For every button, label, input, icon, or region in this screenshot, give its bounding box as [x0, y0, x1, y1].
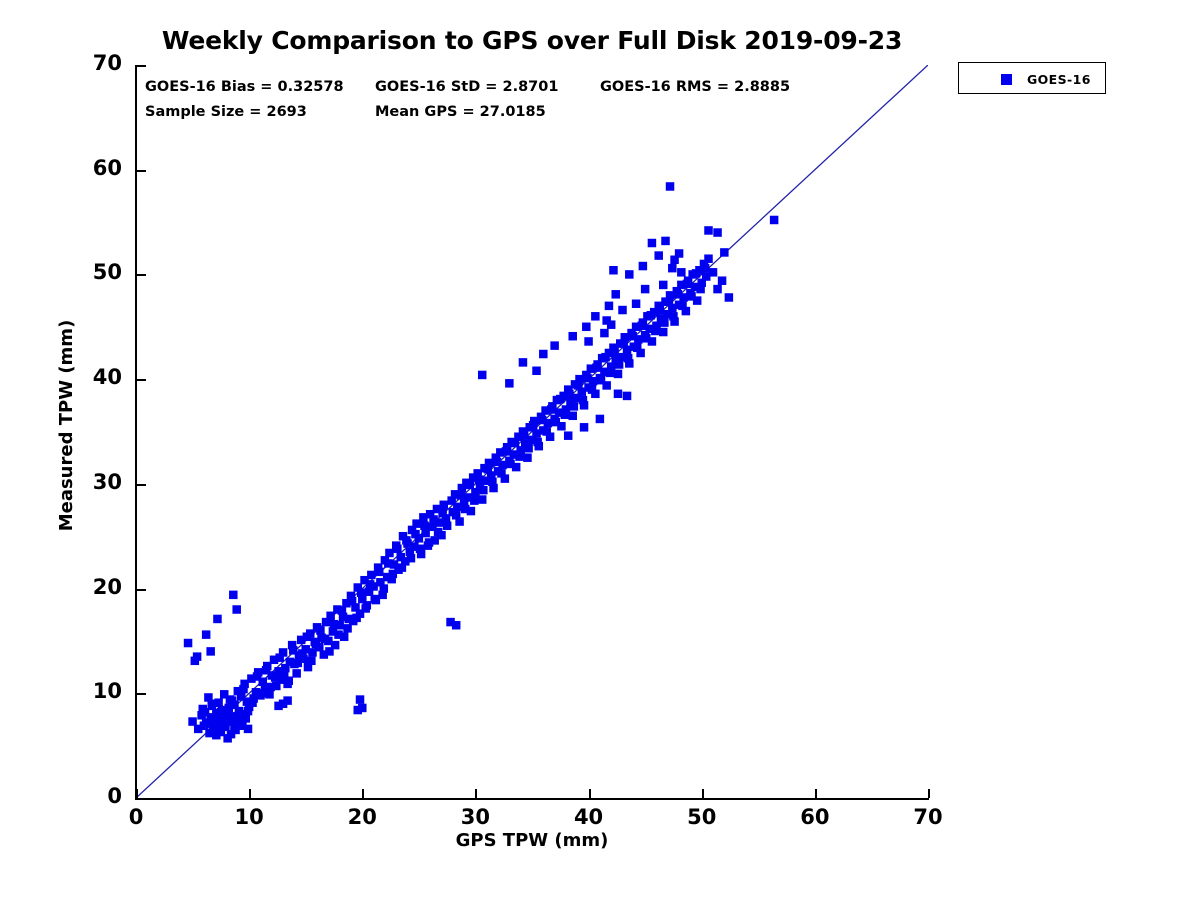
x-axis-label: GPS TPW (mm): [136, 830, 928, 851]
scatter-marker: [253, 672, 262, 681]
annotation-rms: GOES-16 RMS = 2.8885: [600, 79, 790, 95]
scatter-marker: [478, 495, 487, 504]
annotation-bias: GOES-16 Bias = 0.32578: [145, 79, 344, 95]
scatter-marker: [284, 676, 293, 685]
scatter-marker: [402, 536, 411, 545]
annotation-sample-size: Sample Size = 2693: [145, 104, 307, 120]
scatter-marker: [651, 327, 660, 336]
scatter-marker: [475, 475, 484, 484]
scatter-marker: [375, 568, 384, 577]
page-title: Weekly Comparison to GPS over Full Disk …: [136, 26, 928, 55]
scatter-marker: [574, 381, 583, 390]
scatter-marker: [533, 438, 542, 447]
scatter-marker: [661, 237, 670, 246]
scatter-marker: [384, 559, 393, 568]
scatter-marker: [348, 597, 357, 606]
scatter-marker: [619, 339, 628, 348]
scatter-marker: [656, 306, 665, 315]
scatter-marker: [596, 415, 605, 424]
scatter-marker: [605, 302, 614, 311]
scatter-marker: [206, 647, 215, 656]
y-tick: [137, 589, 146, 591]
scatter-marker: [683, 280, 692, 289]
scatter-marker: [366, 580, 375, 589]
scatter-marker: [221, 720, 230, 729]
scatter-marker: [580, 423, 589, 432]
scatter-marker: [713, 228, 722, 237]
scatter-marker: [361, 604, 370, 613]
scatter-marker: [665, 297, 674, 306]
scatter-marker: [529, 421, 538, 430]
y-tick: [137, 798, 146, 800]
scatter-marker: [208, 700, 217, 709]
scatter-marker: [307, 657, 316, 666]
scatter-marker: [639, 262, 648, 271]
scatter-marker: [188, 717, 197, 726]
scatter-marker: [713, 285, 722, 294]
x-tick: [928, 789, 930, 798]
scatter-marker: [674, 290, 683, 299]
scatter-marker: [588, 385, 597, 394]
y-tick-label: 20: [42, 575, 122, 599]
scatter-marker: [677, 268, 686, 277]
scatter-marker: [660, 318, 669, 327]
y-tick-label: 40: [42, 365, 122, 389]
scatter-marker: [262, 666, 271, 675]
scatter-marker: [600, 329, 609, 338]
scatter-marker: [579, 396, 588, 405]
plot-area: [136, 65, 928, 798]
scatter-marker: [611, 290, 620, 299]
scatter-marker: [275, 653, 284, 662]
x-axis-spine: [135, 798, 929, 800]
scatter-marker: [610, 348, 619, 357]
chart-figure: Weekly Comparison to GPS over Full Disk …: [0, 0, 1200, 900]
y-tick-label: 30: [42, 470, 122, 494]
scatter-marker: [602, 316, 611, 325]
y-tick: [137, 274, 146, 276]
scatter-marker: [615, 360, 624, 369]
scatter-marker: [411, 530, 420, 539]
scatter-marker: [568, 332, 577, 341]
x-tick: [815, 789, 817, 798]
y-tick-label: 10: [42, 679, 122, 703]
scatter-marker: [505, 379, 514, 388]
scatter-marker: [226, 695, 235, 704]
x-tick: [475, 789, 477, 798]
x-tick: [136, 789, 138, 798]
scatter-marker: [770, 216, 779, 225]
scatter-marker: [271, 673, 280, 682]
scatter-marker: [244, 725, 253, 734]
scatter-marker: [497, 469, 506, 478]
scatter-marker: [606, 369, 615, 378]
scatter-marker: [416, 545, 425, 554]
scatter-marker: [312, 640, 321, 649]
scatter-marker: [648, 239, 657, 248]
scatter-marker: [239, 685, 248, 694]
scatter-marker: [452, 511, 461, 520]
y-axis-label: Measured TPW (mm): [56, 59, 77, 792]
x-tick-label: 50: [662, 805, 742, 829]
scatter-marker: [493, 458, 502, 467]
scatter-marker: [274, 702, 283, 711]
scatter-marker: [614, 370, 623, 379]
y-tick-label: 50: [42, 260, 122, 284]
x-tick: [362, 789, 364, 798]
y-tick-label: 60: [42, 156, 122, 180]
y-tick-label: 0: [42, 784, 122, 808]
scatter-marker: [511, 439, 520, 448]
x-tick-label: 40: [549, 805, 629, 829]
scatter-marker: [199, 705, 208, 714]
scatter-marker: [582, 323, 591, 332]
scatter-marker: [725, 293, 734, 302]
scatter-marker: [443, 521, 452, 530]
scatter-marker: [696, 285, 705, 294]
scatter-marker: [367, 571, 376, 580]
scatter-marker: [704, 254, 713, 263]
x-tick: [589, 789, 591, 798]
scatter-marker: [632, 300, 641, 309]
scatter-marker: [357, 589, 366, 598]
scatter-marker: [316, 626, 325, 635]
scatter-marker: [478, 371, 487, 380]
scatter-marker: [393, 545, 402, 554]
scatter-marker: [552, 418, 561, 427]
scatter-marker: [212, 731, 221, 740]
x-tick-label: 30: [435, 805, 515, 829]
x-tick-label: 70: [888, 805, 968, 829]
scatter-marker: [633, 343, 642, 352]
annotation-mean-gps: Mean GPS = 27.0185: [375, 104, 546, 120]
scatter-marker: [628, 332, 637, 341]
y-tick: [137, 693, 146, 695]
scatter-marker: [298, 649, 307, 658]
scatter-marker: [701, 264, 710, 273]
scatter-marker: [479, 486, 488, 495]
scatter-marker: [584, 337, 593, 346]
scatter-marker: [217, 708, 226, 717]
y-tick: [137, 379, 146, 381]
x-tick: [249, 789, 251, 798]
scatter-marker: [230, 723, 239, 732]
scatter-marker: [556, 395, 565, 404]
scatter-marker: [438, 509, 447, 518]
scatter-marker: [519, 358, 528, 367]
scatter-marker: [343, 624, 352, 633]
scatter-marker: [248, 698, 257, 707]
scatter-marker: [484, 465, 493, 474]
scatter-marker: [520, 431, 529, 440]
scatter-marker: [568, 412, 577, 421]
scatter-marker: [704, 226, 713, 235]
scatter-marker: [370, 595, 379, 604]
scatter-marker: [385, 549, 394, 558]
scatter-marker: [675, 249, 684, 257]
scatter-marker: [597, 376, 606, 385]
scatter-marker: [654, 251, 663, 260]
scatter-marker: [339, 613, 348, 622]
scatter-marker: [429, 515, 438, 524]
scatter-marker: [470, 496, 479, 505]
scatter-marker: [642, 334, 651, 343]
scatter-marker: [213, 615, 222, 624]
scatter-canvas: [136, 65, 928, 798]
legend-marker-icon: [1001, 74, 1012, 85]
scatter-marker: [669, 312, 678, 321]
scatter-marker: [202, 630, 211, 639]
scatter-marker: [257, 689, 266, 698]
x-tick: [702, 789, 704, 798]
scatter-marker: [692, 269, 701, 278]
scatter-marker: [641, 285, 650, 294]
scatter-marker: [184, 639, 193, 648]
scatter-marker: [618, 306, 627, 315]
scatter-marker: [456, 491, 465, 500]
scatter-marker: [564, 431, 573, 440]
scatter-marker: [235, 711, 244, 720]
scatter-marker: [570, 402, 579, 411]
scatter-marker: [389, 570, 398, 579]
scatter-marker: [515, 452, 524, 461]
scatter-marker: [718, 276, 727, 285]
scatter-marker: [709, 268, 718, 277]
scatter-marker: [229, 591, 238, 600]
scatter-marker: [325, 647, 334, 656]
scatter-marker: [380, 584, 389, 593]
scatter-marker: [398, 563, 407, 572]
scatter-marker: [283, 696, 292, 705]
scatter-marker: [523, 453, 532, 462]
scatter-marker: [539, 350, 548, 359]
scatter-marker: [356, 695, 365, 704]
scatter-marker: [583, 374, 592, 383]
x-tick-label: 0: [96, 805, 176, 829]
x-tick-label: 60: [775, 805, 855, 829]
chart-legend: GOES-16: [958, 62, 1106, 94]
scatter-marker: [624, 354, 633, 363]
scatter-marker: [678, 302, 687, 311]
scatter-marker: [334, 630, 343, 639]
scatter-marker: [358, 704, 367, 713]
scatter-marker: [506, 460, 515, 469]
scatter-marker: [232, 605, 241, 614]
scatter-marker: [193, 652, 202, 661]
scatter-marker: [502, 447, 511, 456]
annotation-std: GOES-16 StD = 2.8701: [375, 79, 558, 95]
scatter-marker: [292, 669, 301, 678]
scatter-marker: [407, 554, 416, 563]
scatter-marker: [668, 264, 677, 273]
scatter-marker: [434, 528, 443, 537]
scatter-marker: [647, 311, 656, 320]
scatter-marker: [452, 621, 461, 630]
scatter-marker: [592, 363, 601, 372]
scatter-marker: [538, 416, 547, 425]
scatter-marker: [303, 632, 312, 641]
scatter-marker: [547, 405, 556, 414]
scatter-marker: [659, 328, 668, 337]
legend-label: GOES-16: [1027, 72, 1091, 87]
x-tick-label: 10: [209, 805, 289, 829]
scatter-marker: [425, 538, 434, 547]
y-tick: [137, 484, 146, 486]
scatter-marker: [280, 668, 289, 677]
y-tick: [137, 65, 146, 67]
scatter-marker: [244, 707, 253, 716]
scatter-marker: [614, 390, 623, 399]
y-tick-label: 70: [42, 51, 122, 75]
scatter-marker: [447, 496, 456, 505]
scatter-marker: [266, 683, 275, 692]
scatter-marker: [550, 341, 559, 350]
scatter-points: [184, 182, 779, 742]
scatter-marker: [440, 501, 449, 510]
scatter-marker: [420, 521, 429, 530]
scatter-marker: [687, 292, 696, 301]
scatter-marker: [720, 248, 729, 257]
scatter-marker: [461, 505, 470, 514]
scatter-marker: [623, 392, 632, 401]
scatter-marker: [625, 270, 634, 279]
y-axis-spine: [135, 65, 137, 800]
scatter-marker: [542, 427, 551, 436]
scatter-marker: [666, 182, 675, 191]
scatter-marker: [638, 321, 647, 330]
scatter-marker: [591, 312, 600, 321]
scatter-marker: [659, 281, 668, 290]
scatter-marker: [601, 353, 610, 362]
scatter-marker: [532, 367, 541, 376]
scatter-marker: [466, 481, 475, 490]
scatter-marker: [352, 614, 361, 623]
scatter-marker: [565, 390, 574, 399]
scatter-marker: [289, 646, 298, 655]
scatter-marker: [488, 478, 497, 487]
scatter-marker: [524, 444, 533, 453]
x-tick-label: 20: [322, 805, 402, 829]
scatter-marker: [609, 266, 618, 275]
scatter-marker: [202, 718, 211, 727]
scatter-marker: [321, 635, 330, 644]
scatter-marker: [561, 411, 570, 420]
scatter-marker: [330, 620, 339, 629]
scatter-marker: [265, 690, 274, 699]
y-tick: [137, 170, 146, 172]
scatter-marker: [294, 659, 303, 668]
